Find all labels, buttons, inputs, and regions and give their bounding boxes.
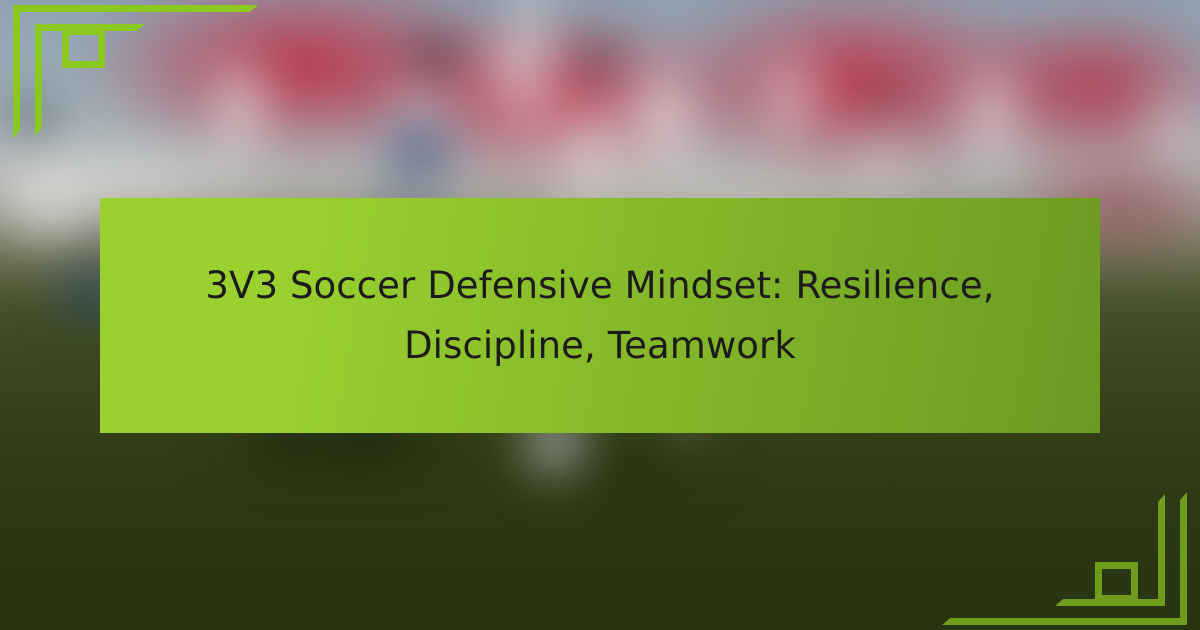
corner-ornament-bottom-right [930, 480, 1200, 630]
bracket-lines-icon [0, 0, 270, 150]
card-title: 3V3 Soccer Defensive Mindset: Resilience… [158, 256, 1042, 376]
corner-ornament-top-left [0, 0, 270, 150]
bracket-lines-mirrored-icon [930, 480, 1200, 630]
share-card: 3V3 Soccer Defensive Mindset: Resilience… [0, 0, 1200, 630]
title-banner: 3V3 Soccer Defensive Mindset: Resilience… [100, 198, 1100, 433]
